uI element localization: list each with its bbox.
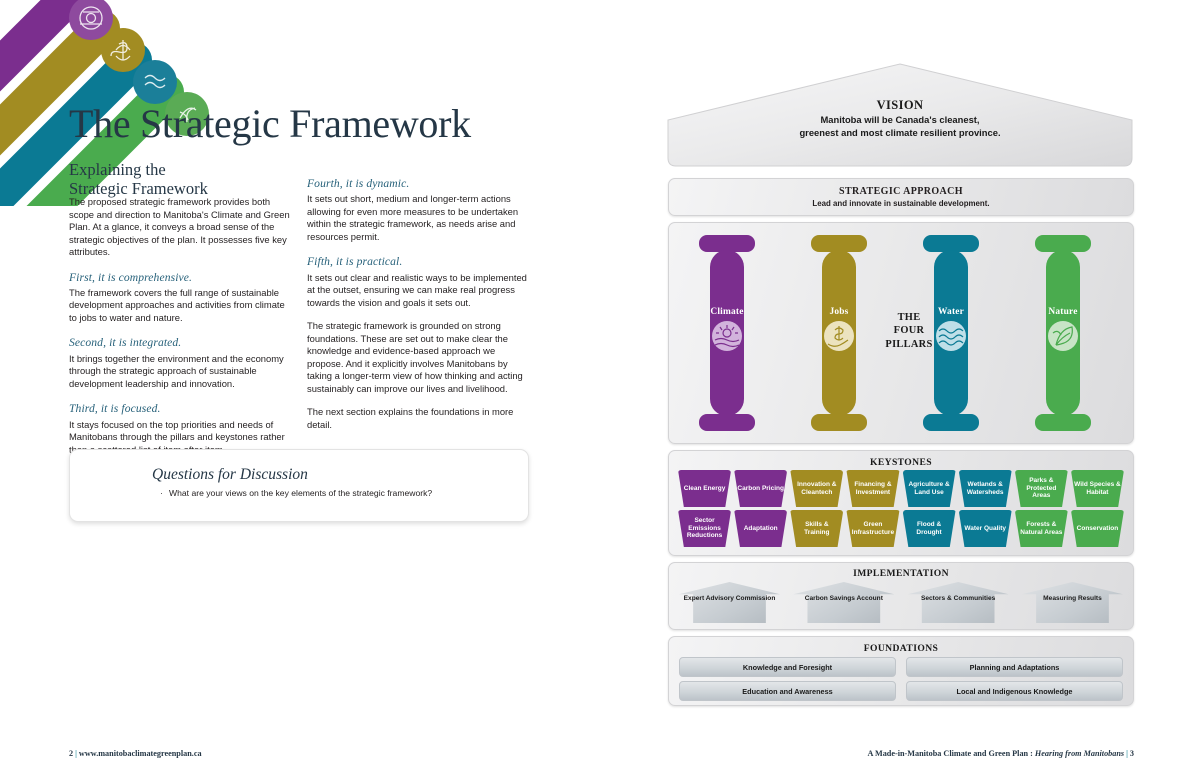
- vision-pediment: VISION Manitoba will be Canada's cleanes…: [660, 62, 1140, 168]
- dollar-hand-icon: [824, 321, 854, 351]
- pillar-label: Jobs: [811, 307, 867, 317]
- attribute-heading: Fourth, it is dynamic.: [307, 176, 531, 191]
- keystones-panel: KEYSTONES Clean Energy Carbon Pricing In…: [668, 450, 1134, 556]
- implementation-item[interactable]: Sectors & Communities: [908, 582, 1009, 623]
- keystone-label: Innovation & Cleantech: [790, 470, 843, 507]
- foundations-grid: Knowledge and Foresight Planning and Ada…: [679, 657, 1123, 701]
- attribute-block: First, it is comprehensive. The framewor…: [69, 270, 291, 325]
- pillar-label: Nature: [1035, 307, 1091, 317]
- attribute-block: Second, it is integrated. It brings toge…: [69, 335, 291, 390]
- keystone-label: Green Infrastructure: [846, 510, 899, 547]
- closing-paragraph-2: The next section explains the foundation…: [307, 406, 531, 431]
- question-text: What are your views on the key elements …: [169, 488, 432, 498]
- keystone-label: Forests & Natural Areas: [1015, 510, 1068, 547]
- keystone-item[interactable]: Skills & Training: [790, 510, 843, 547]
- pillar-base: [811, 414, 867, 431]
- implementation-label: Sectors & Communities: [908, 595, 1009, 603]
- subtitle-line-1: Explaining the: [69, 160, 166, 179]
- attribute-block: Fifth, it is practical. It sets out clea…: [307, 254, 531, 309]
- keystone-label: Skills & Training: [790, 510, 843, 547]
- questions-box-title: Questions for Discussion: [152, 466, 308, 484]
- pillar-climate[interactable]: Climate: [699, 235, 755, 431]
- attribute-block: Third, it is focused. It stays focused o…: [69, 401, 291, 456]
- keystone-label: Financing & Investment: [846, 470, 899, 507]
- vision-line-1: Manitoba will be Canada's cleanest,: [660, 114, 1140, 126]
- foundations-panel: FOUNDATIONS Knowledge and Foresight Plan…: [668, 636, 1134, 706]
- keystones-title: KEYSTONES: [669, 457, 1133, 468]
- attribute-body: It brings together the environment and t…: [69, 353, 291, 391]
- implementation-label: Measuring Results: [1022, 595, 1123, 603]
- keystone-item[interactable]: Wetlands & Watersheds: [959, 470, 1012, 507]
- section-badge-number: 2: [0, 0, 38, 40]
- footer-left: 2|www.manitobaclimategreenplan.ca: [69, 749, 202, 758]
- four-pillars-panel: THE FOUR PILLARS Climate: [668, 222, 1134, 444]
- foundations-title: FOUNDATIONS: [669, 643, 1133, 654]
- body-column-right: Fourth, it is dynamic. It sets out short…: [307, 176, 531, 442]
- body-column-left: The proposed strategic framework provide…: [69, 196, 291, 467]
- vision-line-2: greenest and most climate resilient prov…: [660, 127, 1140, 139]
- foundation-item[interactable]: Local and Indigenous Knowledge: [906, 681, 1123, 701]
- strategic-framework-diagram: VISION Manitoba will be Canada's cleanes…: [660, 62, 1140, 710]
- keystone-label: Conservation: [1071, 510, 1124, 547]
- keystone-item[interactable]: Clean Energy: [678, 470, 731, 507]
- implementation-panel: IMPLEMENTATION Expert Advisory Commissio…: [668, 562, 1134, 630]
- attribute-body: It sets out clear and realistic ways to …: [307, 272, 531, 310]
- keystone-label: Wild Species & Habitat: [1071, 470, 1124, 507]
- sun-icon: [712, 321, 742, 351]
- strategic-approach-panel: STRATEGIC APPROACH Lead and innovate in …: [668, 178, 1134, 216]
- keystone-item[interactable]: Sector Emissions Reductions: [678, 510, 731, 547]
- keystone-item[interactable]: Financing & Investment: [846, 470, 899, 507]
- attribute-heading: Third, it is focused.: [69, 401, 291, 416]
- keystone-label: Carbon Pricing: [734, 470, 787, 507]
- vision-text: VISION Manitoba will be Canada's cleanes…: [660, 98, 1140, 140]
- closing-paragraph-1: The strategic framework is grounded on s…: [307, 320, 531, 395]
- attribute-block: Fourth, it is dynamic. It sets out short…: [307, 176, 531, 243]
- intro-paragraph: The proposed strategic framework provide…: [69, 196, 291, 259]
- document-page: SECTION 2 The Strategic Framework Explai…: [0, 0, 1200, 776]
- implementation-item[interactable]: Measuring Results: [1022, 582, 1123, 623]
- attribute-body: It sets out short, medium and longer-ter…: [307, 193, 531, 243]
- implementation-label: Expert Advisory Commission: [679, 595, 780, 603]
- keystone-label: Parks & Protected Areas: [1015, 470, 1068, 507]
- footer-right: A Made-in-Manitoba Climate and Green Pla…: [867, 749, 1134, 758]
- pillar-base: [1035, 414, 1091, 431]
- waves-icon: [133, 60, 177, 104]
- four-pillars-line-1: THE: [898, 312, 921, 323]
- keystone-item[interactable]: Agriculture & Land Use: [903, 470, 956, 507]
- vision-title: VISION: [660, 98, 1140, 113]
- leaf-icon: [1048, 321, 1078, 351]
- implementation-label: Carbon Savings Account: [793, 595, 894, 603]
- four-pillars-line-2: FOUR: [894, 325, 925, 336]
- pillar-base: [923, 414, 979, 431]
- footer-page-number: 3: [1130, 749, 1134, 758]
- attribute-heading: First, it is comprehensive.: [69, 270, 291, 285]
- implementation-item[interactable]: Carbon Savings Account: [793, 582, 894, 623]
- footer-url: www.manitobaclimategreenplan.ca: [79, 749, 202, 758]
- pillar-jobs[interactable]: Jobs: [811, 235, 867, 431]
- keystone-item[interactable]: Parks & Protected Areas: [1015, 470, 1068, 507]
- footer-doc-title: A Made-in-Manitoba Climate and Green Pla…: [867, 749, 1034, 758]
- implementation-row: Expert Advisory Commission Carbon Saving…: [679, 582, 1123, 623]
- keystone-item[interactable]: Green Infrastructure: [846, 510, 899, 547]
- waves-icon: [936, 321, 966, 351]
- keystones-grid: Clean Energy Carbon Pricing Innovation &…: [678, 470, 1124, 547]
- questions-for-discussion-box: Questions for Discussion ·What are your …: [69, 449, 529, 522]
- pillar-water[interactable]: Water: [923, 235, 979, 431]
- keystone-label: Agriculture & Land Use: [903, 470, 956, 507]
- keystone-item[interactable]: Forests & Natural Areas: [1015, 510, 1068, 547]
- attribute-heading: Fifth, it is practical.: [307, 254, 531, 269]
- attribute-heading: Second, it is integrated.: [69, 335, 291, 350]
- foundation-item[interactable]: Knowledge and Foresight: [679, 657, 896, 677]
- page-title: The Strategic Framework: [69, 104, 471, 144]
- foundation-item[interactable]: Planning and Adaptations: [906, 657, 1123, 677]
- keystone-item[interactable]: Wild Species & Habitat: [1071, 470, 1124, 507]
- strategic-approach-title: STRATEGIC APPROACH: [669, 186, 1133, 197]
- keystone-item[interactable]: Water Quality: [959, 510, 1012, 547]
- pillar-label: Climate: [699, 307, 755, 317]
- keystone-item[interactable]: Innovation & Cleantech: [790, 470, 843, 507]
- keystone-label: Water Quality: [959, 510, 1012, 547]
- section-subtitle: Explaining the Strategic Framework: [69, 160, 319, 199]
- keystone-label: Adaptation: [734, 510, 787, 547]
- keystone-label: Flood & Drought: [903, 510, 956, 547]
- keystone-item[interactable]: Conservation: [1071, 510, 1124, 547]
- keystone-label: Sector Emissions Reductions: [678, 510, 731, 547]
- implementation-item[interactable]: Expert Advisory Commission: [679, 582, 780, 623]
- pillar-base: [699, 414, 755, 431]
- foundation-item[interactable]: Education and Awareness: [679, 681, 896, 701]
- strategic-approach-subtitle: Lead and innovate in sustainable develop…: [669, 199, 1133, 208]
- keystone-label: Wetlands & Watersheds: [959, 470, 1012, 507]
- attribute-body: The framework covers the full range of s…: [69, 287, 291, 325]
- keystone-item[interactable]: Flood & Drought: [903, 510, 956, 547]
- keystone-item[interactable]: Adaptation: [734, 510, 787, 547]
- implementation-title: IMPLEMENTATION: [669, 568, 1133, 579]
- list-item: ·What are your views on the key elements…: [160, 488, 432, 498]
- bullet-icon: ·: [160, 488, 169, 498]
- footer-doc-subtitle: Hearing from Manitobans: [1035, 749, 1124, 758]
- pillar-nature[interactable]: Nature: [1035, 235, 1091, 431]
- keystone-item[interactable]: Carbon Pricing: [734, 470, 787, 507]
- keystone-label: Clean Energy: [678, 470, 731, 507]
- pillar-label: Water: [923, 307, 979, 317]
